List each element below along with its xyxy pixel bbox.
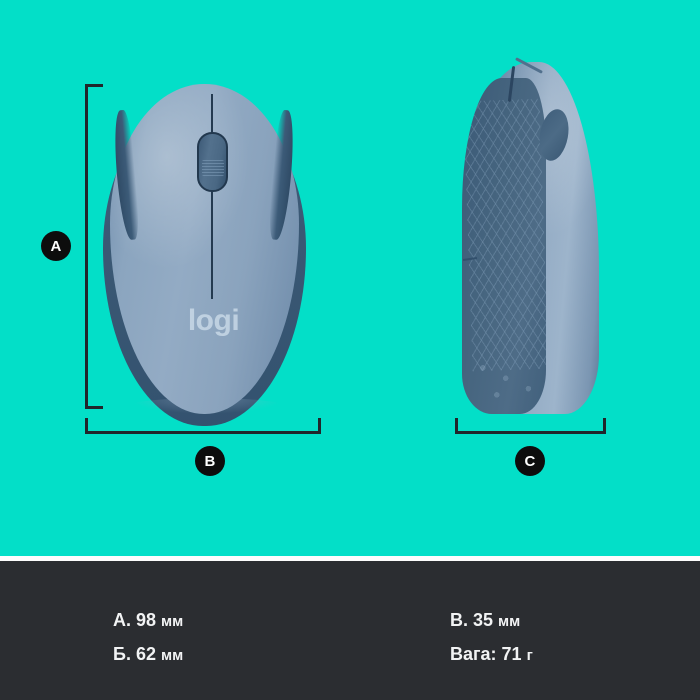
scroll-wheel-texture [202, 160, 224, 176]
mouse-top-view: logi [101, 78, 308, 426]
logi-wordmark: logi [110, 306, 317, 336]
dimension-bracket-c-left-cap [455, 418, 458, 434]
specification-panel: А. 98 мм Б. 62 мм В. 35 мм Вага: 71 г [0, 561, 700, 700]
spec-width-value: Б. 62 [113, 644, 156, 664]
spec-width-unit: мм [161, 647, 183, 664]
spec-row-height: В. 35 мм [450, 611, 520, 629]
mouse-top-right-button-edge [267, 109, 296, 240]
mouse-side-dimple-texture [474, 356, 543, 410]
dimension-bracket-b-left-cap [85, 418, 88, 434]
mouse-top-button-split-line [211, 94, 213, 299]
dimension-bracket-c-bar [455, 431, 606, 434]
spec-weight-unit: г [527, 647, 533, 664]
spec-row-length: А. 98 мм [113, 611, 183, 629]
dimension-badge-a: A [41, 231, 71, 261]
dimension-bracket-a-stem [85, 84, 88, 409]
dimension-bracket-c-right-cap [603, 418, 606, 434]
spec-height-value: В. 35 [450, 610, 493, 630]
dimension-badge-c: C [515, 446, 545, 476]
scroll-wheel [197, 132, 228, 192]
dimension-bracket-b-right-cap [318, 418, 321, 434]
spec-length-unit: мм [161, 613, 183, 630]
dimension-badge-b: B [195, 446, 225, 476]
spec-height-unit: мм [498, 613, 520, 630]
spec-weight-value: Вага: 71 [450, 644, 522, 664]
dimension-bracket-b-bar [85, 431, 321, 434]
hero-panel: logi A B C [0, 0, 700, 556]
mouse-side-grip-texture [463, 99, 546, 371]
spec-length-value: А. 98 [113, 610, 156, 630]
spec-row-weight: Вага: 71 г [450, 645, 533, 663]
spec-row-width: Б. 62 мм [113, 645, 183, 663]
mouse-side-view [462, 62, 602, 414]
mouse-top-left-button-edge [111, 109, 140, 240]
mouse-side-grip-flank [462, 78, 546, 414]
product-dimension-infographic: logi A B C А. 98 мм [0, 0, 700, 700]
